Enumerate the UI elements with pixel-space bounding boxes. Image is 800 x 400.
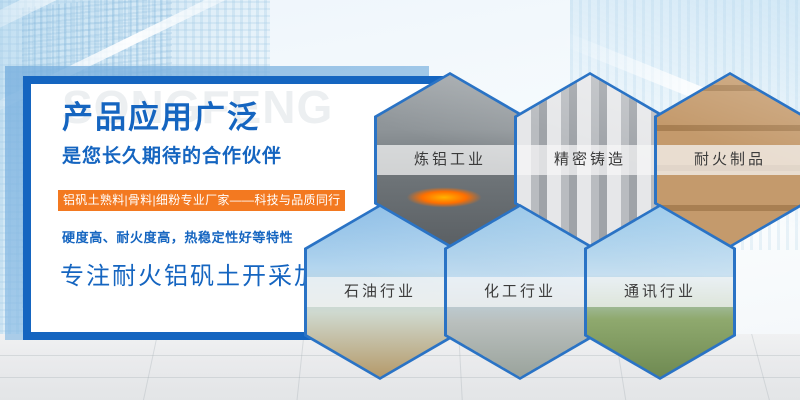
hexagon-label: 石油行业 <box>307 277 453 307</box>
subheadline: 是您长久期待的合作伙伴 <box>62 147 282 166</box>
promotional-banner: SONGFENG 产品应用广泛 是您长久期待的合作伙伴 铝矾土熟料|骨料|细粉专… <box>0 0 800 400</box>
floor-line-h2 <box>0 377 800 378</box>
hexagon-label: 精密铸造 <box>517 145 663 175</box>
tagline: 专注耐火铝矾土开采加工 <box>60 265 346 289</box>
ribbon-tagline: 铝矾土熟料|骨料|细粉专业厂家——科技与品质同行 <box>58 190 345 211</box>
headline: 产品应用广泛 <box>62 102 260 133</box>
hexagon-label: 炼铝工业 <box>377 145 523 175</box>
hexagon-label: 耐火制品 <box>657 145 800 175</box>
hexagon-label: 化工行业 <box>447 277 593 307</box>
feature-text: 硬度高、耐火度高，热稳定性好等特性 <box>62 231 293 244</box>
hexagon-label: 通讯行业 <box>587 277 733 307</box>
